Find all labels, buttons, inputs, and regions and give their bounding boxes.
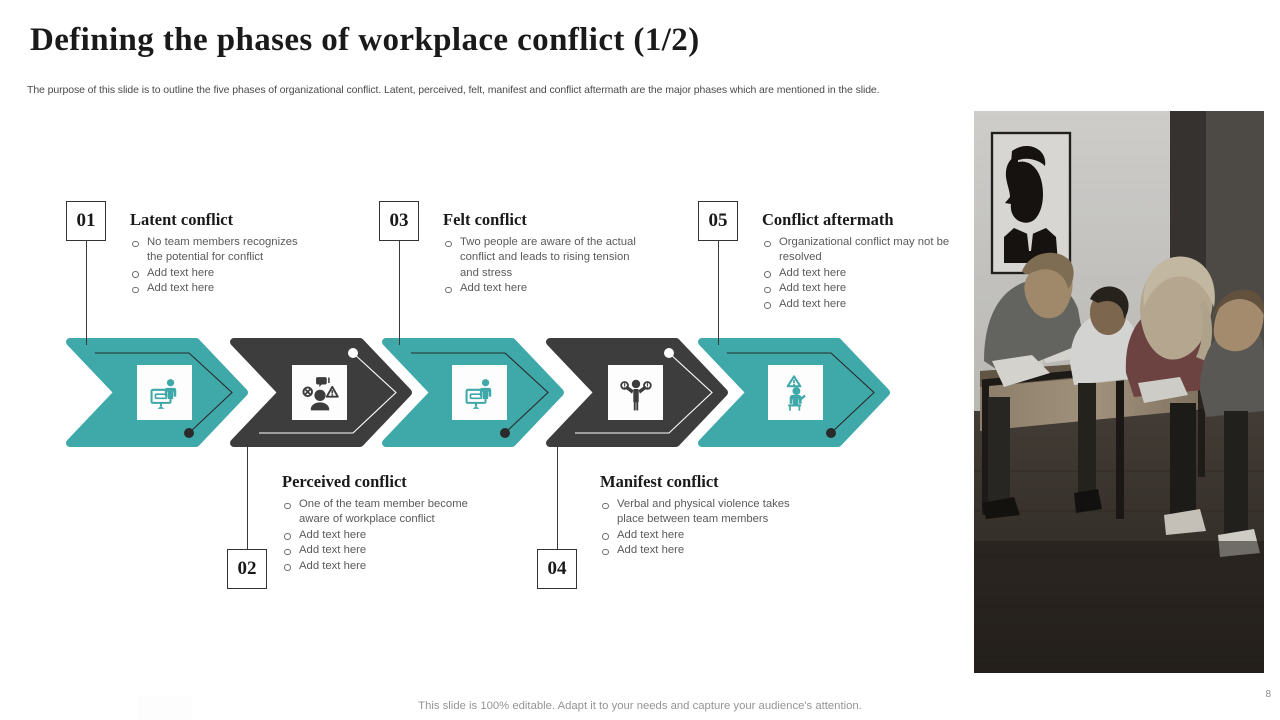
person-arms-raised-icon [617, 374, 655, 412]
presentation-person-icon [461, 374, 499, 412]
phase-heading-05: Conflict aftermath [762, 210, 958, 230]
list-item: Add text here [282, 559, 472, 574]
phase-block-05: Conflict aftermath Organizational confli… [762, 210, 958, 312]
page-subtitle: The purpose of this slide is to outline … [27, 84, 880, 96]
phase-number-03[interactable]: 03 [379, 201, 419, 241]
phase-bullets-01: No team members recognizes the potential… [130, 235, 305, 297]
icon-tile-4 [608, 365, 663, 420]
list-item: Add text here [282, 543, 472, 558]
slide-root: Defining the phases of workplace conflic… [0, 0, 1280, 720]
page-number: 8 [1265, 689, 1271, 700]
page-title: Defining the phases of workplace conflic… [30, 22, 700, 59]
connector-line-4 [557, 444, 558, 549]
photo-illustration [974, 111, 1264, 673]
connector-line-3 [399, 238, 400, 345]
list-item: Add text here [600, 528, 800, 543]
list-item: Add text here [130, 266, 305, 281]
list-item: Add text here [762, 297, 958, 312]
phase-number-05[interactable]: 05 [698, 201, 738, 241]
phase-block-02: Perceived conflict One of the team membe… [282, 472, 472, 574]
phase-number-01[interactable]: 01 [66, 201, 106, 241]
list-item: Add text here [130, 281, 305, 296]
phase-bullets-05: Organizational conflict may not be resol… [762, 235, 958, 312]
icon-tile-2 [292, 365, 347, 420]
phase-heading-01: Latent conflict [130, 210, 305, 230]
connector-line-2 [247, 444, 248, 549]
icon-tile-3 [452, 365, 507, 420]
footer-note: This slide is 100% editable. Adapt it to… [0, 700, 1280, 712]
icon-tile-5 [768, 365, 823, 420]
list-item: Organizational conflict may not be resol… [762, 235, 958, 266]
list-item: No team members recognizes the potential… [130, 235, 305, 266]
icon-tile-1 [137, 365, 192, 420]
person-seated-alert-icon [777, 374, 815, 412]
person-warning-speech-icon [301, 374, 339, 412]
list-item: Two people are aware of the actual confl… [443, 235, 643, 281]
list-item: Add text here [762, 281, 958, 296]
list-item: Add text here [600, 543, 800, 558]
phase-block-03: Felt conflict Two people are aware of th… [443, 210, 643, 297]
phase-number-02[interactable]: 02 [227, 549, 267, 589]
phase-heading-03: Felt conflict [443, 210, 643, 230]
phase-bullets-02: One of the team member become aware of w… [282, 497, 472, 574]
phase-heading-04: Manifest conflict [600, 472, 800, 492]
list-item: Verbal and physical violence takes place… [600, 497, 800, 528]
phase-block-01: Latent conflict No team members recogniz… [130, 210, 305, 297]
list-item: One of the team member become aware of w… [282, 497, 472, 528]
phase-number-04[interactable]: 04 [537, 549, 577, 589]
phase-heading-02: Perceived conflict [282, 472, 472, 492]
list-item: Add text here [762, 266, 958, 281]
connector-line-5 [718, 238, 719, 345]
presentation-person-icon [146, 374, 184, 412]
connector-line-1 [86, 238, 87, 345]
list-item: Add text here [443, 281, 643, 296]
phase-block-04: Manifest conflict Verbal and physical vi… [600, 472, 800, 559]
list-item: Add text here [282, 528, 472, 543]
phase-bullets-04: Verbal and physical violence takes place… [600, 497, 800, 559]
team-meeting-photo [974, 111, 1264, 673]
phase-bullets-03: Two people are aware of the actual confl… [443, 235, 643, 297]
